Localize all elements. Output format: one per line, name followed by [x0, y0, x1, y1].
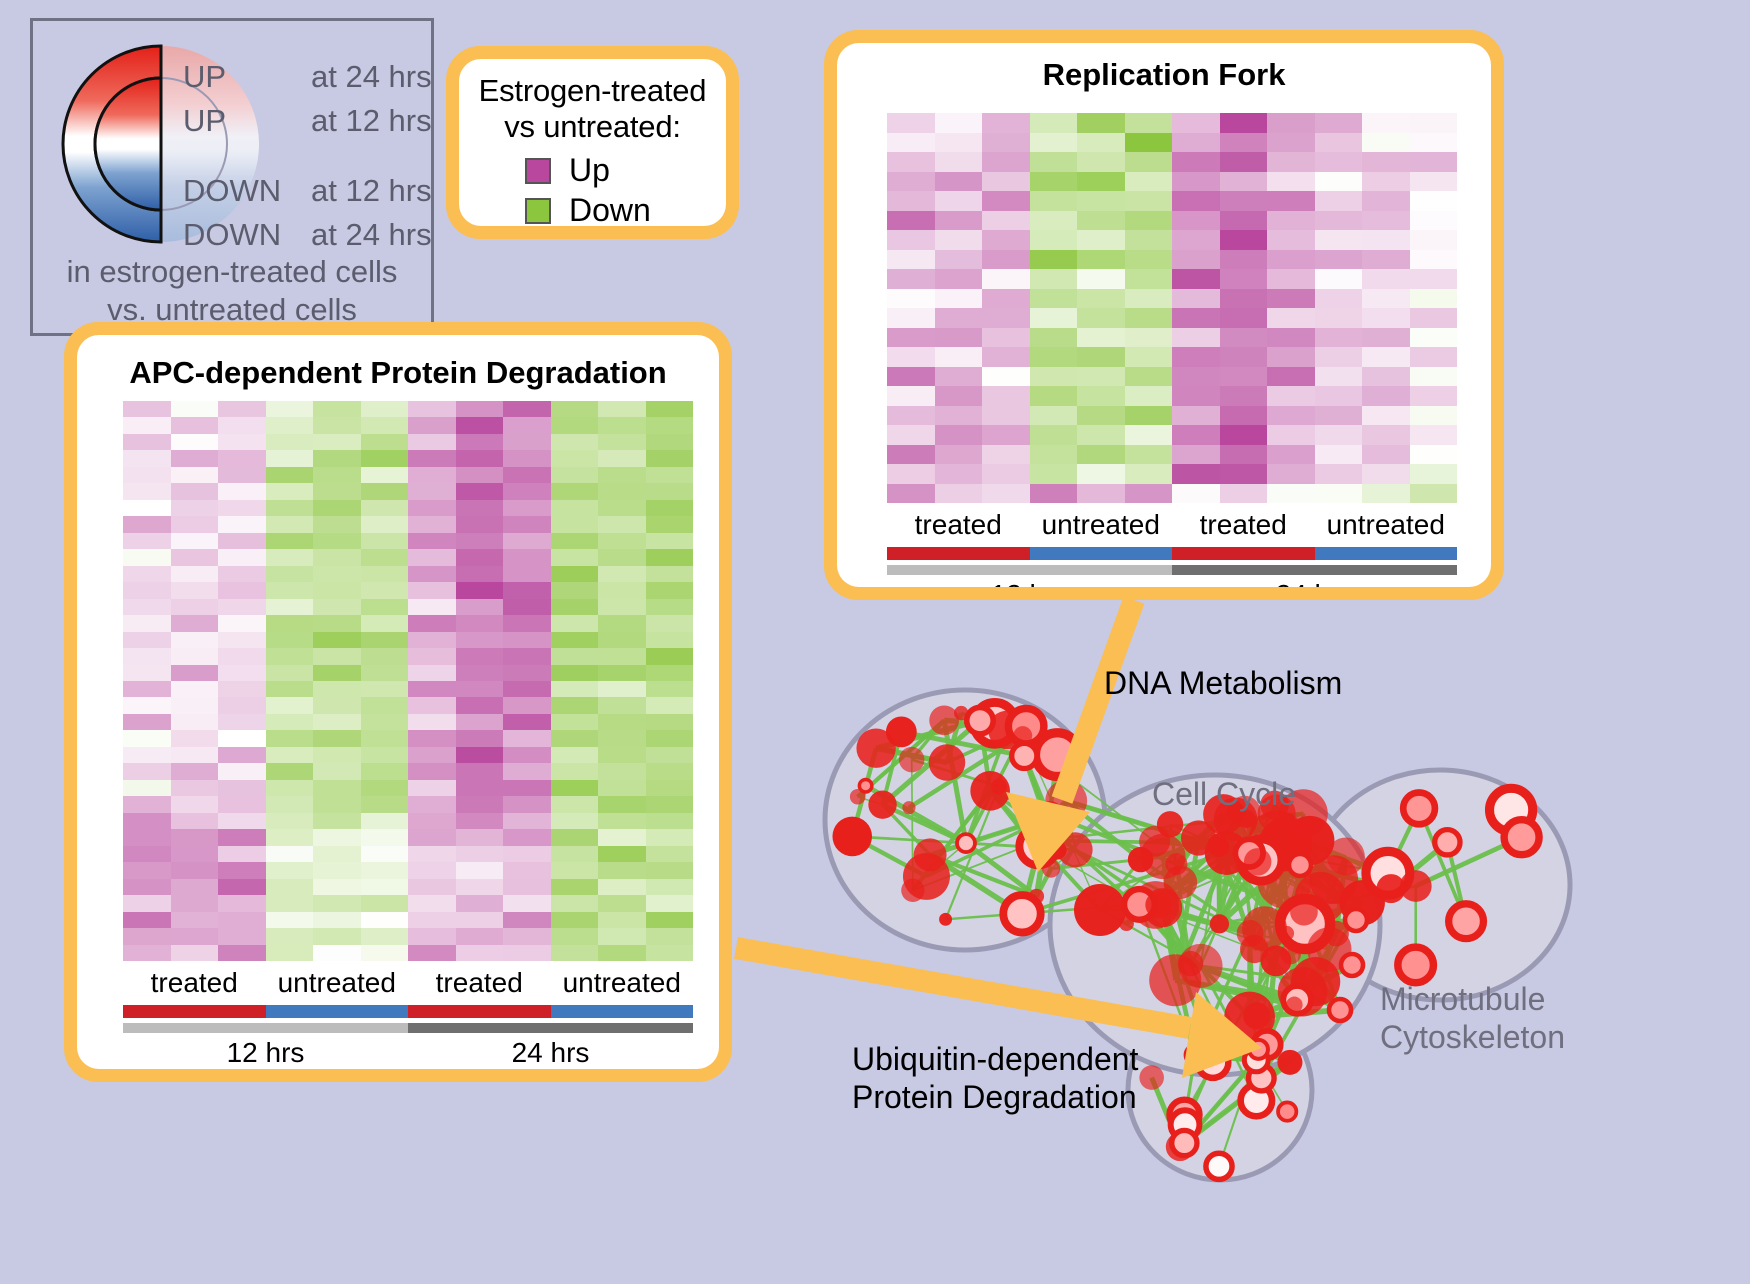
heatmap-cell	[456, 780, 504, 796]
heatmap-cell	[1125, 484, 1173, 504]
heatmap-cell	[1220, 133, 1268, 153]
heatmap-cell	[408, 895, 456, 911]
heatmap-cell	[1220, 172, 1268, 192]
heatmap-cell	[171, 648, 219, 664]
network-node	[1210, 914, 1229, 933]
heatmap-cell	[887, 386, 935, 406]
apc-treatment-bars	[123, 1005, 693, 1018]
untreated-bar	[551, 1005, 694, 1018]
heatmap-cell	[361, 945, 409, 961]
heatmap-cell	[408, 862, 456, 878]
heatmap-cell	[1172, 445, 1220, 465]
heatmap-cell	[1220, 484, 1268, 504]
heatmap-cell	[646, 615, 694, 631]
heatmap-cell	[1410, 230, 1458, 250]
heatmap-cell	[551, 945, 599, 961]
heatmap-cell	[887, 445, 935, 465]
heatmap-cell	[313, 599, 361, 615]
heatmap-cell	[123, 401, 171, 417]
heatmap-cell	[982, 386, 1030, 406]
heatmap-cell	[218, 500, 266, 516]
treated-bar	[408, 1005, 551, 1018]
heatmap-cell	[313, 632, 361, 648]
heatmap-cell	[361, 500, 409, 516]
heatmap-cell	[1030, 230, 1078, 250]
heatmap-cell	[171, 813, 219, 829]
wheel-row: DOWN at 12 hrs	[183, 169, 433, 213]
heatmap-cell	[982, 250, 1030, 270]
heatmap-cell	[1267, 367, 1315, 387]
heatmap-cell	[1410, 406, 1458, 426]
heatmap-cell	[503, 599, 551, 615]
heatmap-cell	[313, 730, 361, 746]
heatmap-cell	[218, 648, 266, 664]
wheel-time: at 24 hrs	[311, 59, 432, 95]
heatmap-cell	[503, 516, 551, 532]
heatmap-cell	[408, 796, 456, 812]
heatmap-cell	[551, 879, 599, 895]
network-node	[929, 705, 959, 735]
heatmap-cell	[171, 566, 219, 582]
heatmap-cell	[1172, 269, 1220, 289]
heatmap-cell	[218, 697, 266, 713]
heatmap-cell	[551, 483, 599, 499]
heatmap-cell	[408, 648, 456, 664]
cluster-label-cell-cycle: Cell Cycle	[1152, 776, 1296, 813]
heatmap-cell	[266, 912, 314, 928]
network-node	[1249, 1040, 1268, 1059]
heatmap-cell	[171, 599, 219, 615]
heatmap-cell	[218, 599, 266, 615]
heatmap-cell	[503, 483, 551, 499]
network-node	[1329, 999, 1351, 1021]
heatmap-cell	[982, 152, 1030, 172]
heatmap-cell	[1077, 328, 1125, 348]
heatmap-cell	[887, 425, 935, 445]
heatmap-cell	[1315, 269, 1363, 289]
heatmap-cell	[1362, 289, 1410, 309]
heatmap-cell	[218, 846, 266, 862]
heatmap-cell	[503, 697, 551, 713]
heatmap-cell	[551, 763, 599, 779]
heatmap-cell	[1172, 367, 1220, 387]
heatmap-cell	[361, 846, 409, 862]
heatmap-cell	[1267, 425, 1315, 445]
heatmap-cell	[456, 730, 504, 746]
heatmap-cell	[123, 780, 171, 796]
replication-fork-column-group-labels: treated untreated treated untreated	[887, 509, 1457, 541]
heatmap-cell	[503, 500, 551, 516]
heatmap-cell	[646, 714, 694, 730]
heatmap-cell	[1220, 367, 1268, 387]
heatmap-cell	[313, 615, 361, 631]
heatmap-cell	[1030, 250, 1078, 270]
heatmap-cell	[551, 912, 599, 928]
heatmap-cell	[123, 681, 171, 697]
replication-fork-time-bars	[887, 565, 1457, 575]
heatmap-cell	[646, 730, 694, 746]
heatmap-cell	[1077, 211, 1125, 231]
heatmap-cell	[1315, 250, 1363, 270]
heatmap-cell	[1267, 172, 1315, 192]
heatmap-cell	[266, 681, 314, 697]
heatmap-cell	[1315, 347, 1363, 367]
heatmap-cell	[123, 500, 171, 516]
heatmap-cell	[1362, 269, 1410, 289]
heatmap-cell	[887, 347, 935, 367]
heatmap-cell	[1267, 328, 1315, 348]
heatmap-cell	[1362, 308, 1410, 328]
heatmap-cell	[1315, 211, 1363, 231]
heatmap-cell	[1362, 230, 1410, 250]
heatmap-cell	[598, 747, 646, 763]
heatmap-cell	[361, 813, 409, 829]
network-node	[1139, 1065, 1164, 1090]
network-node	[1128, 847, 1153, 872]
heatmap-cell	[1077, 425, 1125, 445]
heatmap-cell	[1172, 172, 1220, 192]
colorwheel-caption: in estrogen-treated cells vs. untreated …	[33, 253, 431, 330]
heatmap-cell	[1172, 211, 1220, 231]
heatmap-cell	[887, 289, 935, 309]
heatmap-cell	[551, 582, 599, 598]
heatmap-cell	[313, 467, 361, 483]
heatmap-cell	[1267, 464, 1315, 484]
heatmap-cell	[1125, 347, 1173, 367]
heatmap-cell	[171, 632, 219, 648]
heatmap-cell	[935, 133, 983, 153]
heatmap-cell	[1267, 484, 1315, 504]
wheel-direction: DOWN	[183, 217, 311, 253]
wheel-time: at 24 hrs	[311, 217, 432, 253]
heatmap-cell	[1030, 269, 1078, 289]
heatmap-cell	[1030, 464, 1078, 484]
heatmap-cell	[1125, 406, 1173, 426]
heatmap-cell	[1410, 133, 1458, 153]
heatmap-cell	[598, 549, 646, 565]
heatmap-cell	[218, 566, 266, 582]
heatmap-cell	[1267, 269, 1315, 289]
heatmap-cell	[887, 308, 935, 328]
heatmap-cell	[313, 862, 361, 878]
heatmap-cell	[171, 483, 219, 499]
heatmap-cell	[551, 829, 599, 845]
apc-degradation-panel: APC-dependent Protein Degradation treate…	[64, 322, 732, 1082]
heatmap-cell	[1077, 386, 1125, 406]
heatmap-cell	[935, 464, 983, 484]
heatmap-cell	[1077, 191, 1125, 211]
heatmap-cell	[408, 615, 456, 631]
heatmap-cell	[1172, 425, 1220, 445]
heatmap-cell	[313, 483, 361, 499]
heatmap-cell	[456, 582, 504, 598]
heatmap-cell	[1172, 133, 1220, 153]
heatmap-cell	[1077, 484, 1125, 504]
heatmap-cell	[408, 730, 456, 746]
heatmap-cell	[551, 599, 599, 615]
heatmap-cell	[361, 730, 409, 746]
colorwheel-row-labels: UP at 24 hrs UP at 12 hrs DOWN at 12 hrs…	[183, 55, 433, 257]
heatmap-cell	[935, 367, 983, 387]
heatmap-cell	[218, 763, 266, 779]
heatmap-cell	[1410, 211, 1458, 231]
heatmap-cell	[1315, 328, 1363, 348]
heatmap-cell	[646, 829, 694, 845]
network-node	[1279, 926, 1294, 941]
heatmap-cell	[266, 945, 314, 961]
heatmap-cell	[1315, 386, 1363, 406]
heatmap-cell	[1362, 367, 1410, 387]
heatmap-cell	[1125, 328, 1173, 348]
heatmap-cell	[456, 434, 504, 450]
heatmap-cell	[887, 133, 935, 153]
heatmap-cell	[1077, 172, 1125, 192]
heatmap-cell	[551, 417, 599, 433]
heatmap-cell	[361, 895, 409, 911]
heatmap-cell	[1125, 445, 1173, 465]
heatmap-cell	[598, 648, 646, 664]
heatmap-cell	[1030, 347, 1078, 367]
heatmap-cell	[266, 780, 314, 796]
network-node	[859, 779, 872, 792]
heatmap-cell	[171, 862, 219, 878]
heatmap-cell	[408, 879, 456, 895]
network-node	[1165, 853, 1187, 875]
replication-fork-heatmap	[887, 113, 1457, 503]
heatmap-cell	[1125, 367, 1173, 387]
heatmap-cell	[408, 681, 456, 697]
heatmap-cell	[171, 665, 219, 681]
heatmap-cell	[887, 406, 935, 426]
heatmap-cell	[982, 367, 1030, 387]
heatmap-cell	[503, 763, 551, 779]
heatmap-cell	[313, 401, 361, 417]
heatmap-cell	[503, 681, 551, 697]
heatmap-cell	[171, 829, 219, 845]
heatmap-cell	[456, 401, 504, 417]
heatmap-cell	[1220, 425, 1268, 445]
heatmap-cell	[503, 829, 551, 845]
heatmap-cell	[982, 172, 1030, 192]
heatmap-cell	[982, 191, 1030, 211]
heatmap-cell	[456, 417, 504, 433]
heatmap-cell	[646, 747, 694, 763]
heatmap-cell	[408, 483, 456, 499]
heatmap-cell	[646, 796, 694, 812]
heatmap-cell	[218, 928, 266, 944]
heatmap-cell	[1362, 250, 1410, 270]
legend-title: Estrogen-treated vs untreated:	[459, 73, 726, 145]
heatmap-cell	[218, 615, 266, 631]
heatmap-cell	[266, 763, 314, 779]
heatmap-cell	[503, 566, 551, 582]
heatmap-cell	[123, 417, 171, 433]
heatmap-cell	[887, 172, 935, 192]
cluster-label-line-2: Cytoskeleton	[1380, 1018, 1565, 1056]
heatmap-cell	[1220, 347, 1268, 367]
heatmap-cell	[408, 467, 456, 483]
heatmap-cell	[313, 879, 361, 895]
heatmap-cell	[456, 533, 504, 549]
heatmap-cell	[598, 566, 646, 582]
wheel-row: DOWN at 24 hrs	[183, 213, 433, 257]
heatmap-cell	[1077, 133, 1125, 153]
heatmap-cell	[1172, 191, 1220, 211]
heatmap-cell	[887, 367, 935, 387]
heatmap-cell	[598, 780, 646, 796]
heatmap-cell	[1172, 230, 1220, 250]
untreated-bar	[266, 1005, 409, 1018]
apc-column-group-labels: treated untreated treated untreated	[123, 967, 693, 999]
heatmap-cell	[503, 450, 551, 466]
heatmap-cell	[935, 347, 983, 367]
heatmap-cell	[1410, 269, 1458, 289]
heatmap-cell	[171, 500, 219, 516]
heatmap-cell	[1030, 425, 1078, 445]
heatmap-cell	[313, 417, 361, 433]
heatmap-cell	[1125, 113, 1173, 133]
heatmap-cell	[503, 417, 551, 433]
heatmap-cell	[408, 912, 456, 928]
heatmap-cell	[218, 681, 266, 697]
heatmap-cell	[646, 928, 694, 944]
heatmap-cell	[646, 533, 694, 549]
heatmap-cell	[935, 425, 983, 445]
heatmap-cell	[123, 763, 171, 779]
heatmap-cell	[408, 582, 456, 598]
heatmap-cell	[123, 467, 171, 483]
heatmap-cell	[598, 665, 646, 681]
heatmap-cell	[551, 516, 599, 532]
heatmap-cell	[598, 582, 646, 598]
heatmap-cell	[266, 450, 314, 466]
heatmap-cell	[123, 879, 171, 895]
heatmap-cell	[408, 549, 456, 565]
heatmap-cell	[551, 434, 599, 450]
heatmap-cell	[1315, 484, 1363, 504]
network-node	[1277, 1050, 1302, 1075]
heatmap-cell	[1410, 386, 1458, 406]
heatmap-cell	[218, 467, 266, 483]
heatmap-cell	[935, 191, 983, 211]
heatmap-cell	[171, 697, 219, 713]
heatmap-cell	[1077, 406, 1125, 426]
heatmap-cell	[1267, 230, 1315, 250]
heatmap-cell	[218, 714, 266, 730]
heatmap-cell	[1220, 211, 1268, 231]
column-group-label: treated	[887, 509, 1030, 541]
heatmap-cell	[982, 406, 1030, 426]
heatmap-cell	[266, 582, 314, 598]
heatmap-cell	[171, 780, 219, 796]
heatmap-cell	[1172, 250, 1220, 270]
heatmap-cell	[598, 945, 646, 961]
heatmap-cell	[1362, 328, 1410, 348]
heatmap-cell	[1267, 289, 1315, 309]
heatmap-cell	[313, 829, 361, 845]
heatmap-cell	[361, 796, 409, 812]
heatmap-cell	[551, 747, 599, 763]
heatmap-cell	[551, 665, 599, 681]
network-node	[1341, 954, 1363, 976]
heatmap-cell	[218, 582, 266, 598]
heatmap-cell	[1125, 211, 1173, 231]
heatmap-cell	[313, 450, 361, 466]
heatmap-cell	[598, 401, 646, 417]
heatmap-cell	[456, 450, 504, 466]
heatmap-cell	[361, 566, 409, 582]
heatmap-cell	[171, 467, 219, 483]
heatmap-cell	[171, 763, 219, 779]
heatmap-cell	[123, 895, 171, 911]
heatmap-cell	[1077, 250, 1125, 270]
heatmap-cell	[935, 386, 983, 406]
network-node	[1214, 1024, 1233, 1043]
heatmap-cell	[1077, 113, 1125, 133]
heatmap-cell	[456, 681, 504, 697]
heatmap-cell	[982, 484, 1030, 504]
heatmap-cell	[1125, 269, 1173, 289]
wheel-row: UP at 24 hrs	[183, 55, 433, 99]
heatmap-cell	[1125, 191, 1173, 211]
heatmap-cell	[598, 483, 646, 499]
legend-title-line-2: vs untreated:	[459, 109, 726, 145]
heatmap-cell	[935, 328, 983, 348]
heatmap-cell	[935, 308, 983, 328]
heatmap-cell	[598, 912, 646, 928]
heatmap-cell	[123, 516, 171, 532]
network-node	[1290, 898, 1318, 926]
heatmap-cell	[1315, 289, 1363, 309]
cluster-label-line-1: Ubiquitin-dependent	[852, 1040, 1138, 1078]
heatmap-cell	[646, 846, 694, 862]
heatmap-cell	[1125, 133, 1173, 153]
heatmap-cell	[171, 582, 219, 598]
heatmap-cell	[887, 211, 935, 231]
heatmap-cell	[123, 945, 171, 961]
heatmap-cell	[456, 599, 504, 615]
heatmap-cell	[598, 516, 646, 532]
heatmap-cell	[982, 347, 1030, 367]
heatmap-cell	[646, 566, 694, 582]
heatmap-cell	[887, 464, 935, 484]
heatmap-cell	[935, 152, 983, 172]
heatmap-cell	[503, 846, 551, 862]
heatmap-cell	[982, 230, 1030, 250]
heatmap-cell	[646, 500, 694, 516]
heatmap-cell	[551, 730, 599, 746]
heatmap-cell	[218, 829, 266, 845]
heatmap-cell	[408, 665, 456, 681]
time-label-12hrs: 12 hrs	[887, 579, 1172, 587]
heatmap-cell	[313, 516, 361, 532]
heatmap-cell	[503, 862, 551, 878]
heatmap-cell	[646, 632, 694, 648]
heatmap-cell	[646, 912, 694, 928]
wheel-time: at 12 hrs	[311, 173, 432, 209]
heatmap-cell	[1172, 152, 1220, 172]
heatmap-cell	[598, 829, 646, 845]
heatmap-cell	[551, 401, 599, 417]
heatmap-cell	[503, 648, 551, 664]
network-node	[991, 779, 1007, 795]
heatmap-cell	[503, 665, 551, 681]
network-node	[1449, 904, 1484, 939]
heatmap-cell	[1315, 172, 1363, 192]
time-bar-24hrs	[1172, 565, 1457, 575]
heatmap-cell	[361, 747, 409, 763]
heatmap-cell	[266, 500, 314, 516]
